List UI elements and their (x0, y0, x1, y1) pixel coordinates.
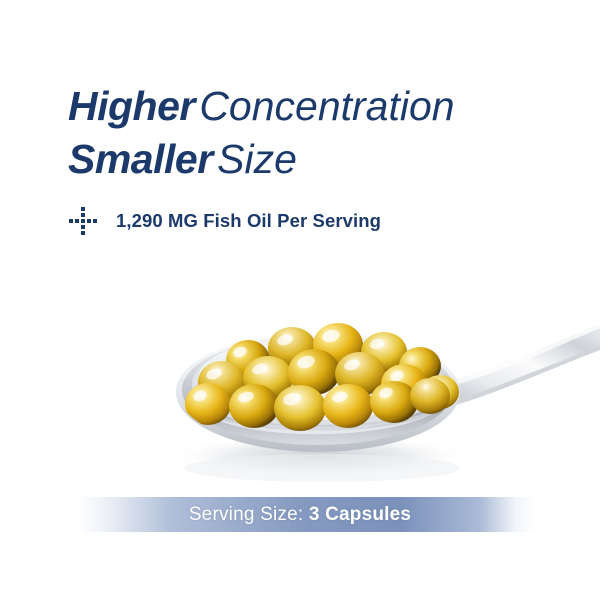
serving-size-text: Serving Size: 3 Capsules (189, 504, 411, 526)
product-marketing-image: Higher Concentration Smaller Size (0, 0, 600, 600)
serving-size-label: Serving Size: (189, 504, 304, 525)
headline-word-smaller: Smaller (68, 136, 213, 182)
headline-line-2: Smaller Size (68, 139, 588, 180)
serving-size-value: 3 Capsules (309, 504, 411, 525)
headline-word-concentration: Concentration (199, 83, 454, 129)
subheadline-text: 1,290 MG Fish Oil Per Serving (116, 210, 381, 232)
subheadline-block: 1,290 MG Fish Oil Per Serving (68, 206, 381, 236)
headline-word-higher: Higher (68, 83, 195, 129)
headline-block: Higher Concentration Smaller Size (68, 86, 588, 192)
dotted-cross-icon (68, 206, 98, 236)
spoon-with-capsules-illustration (0, 300, 600, 530)
serving-size-banner: Serving Size: 3 Capsules (0, 497, 600, 532)
product-photo (0, 300, 600, 530)
headline-word-size: Size (217, 136, 297, 182)
headline-line-1: Higher Concentration (68, 86, 588, 127)
